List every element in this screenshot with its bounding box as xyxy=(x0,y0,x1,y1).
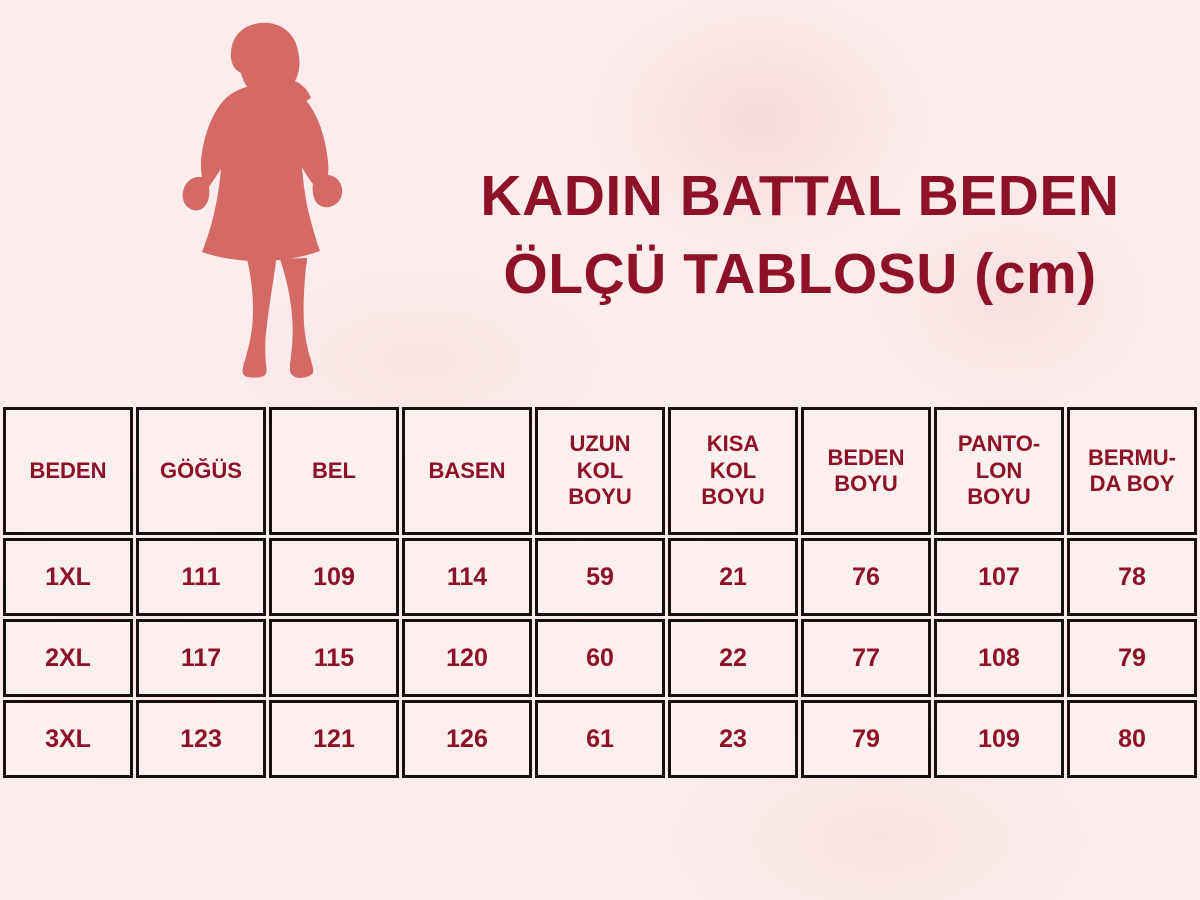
header-label-line: BOYU xyxy=(939,484,1059,510)
table-row: 1XL11110911459217610778 xyxy=(3,538,1197,616)
size-chart-body: BEDENGÖĞÜSBELBASENUZUNKOLBOYUKISAKOLBOYU… xyxy=(3,407,1197,778)
header-label-line: BEDEN xyxy=(8,458,128,484)
header-label: BEDEN xyxy=(8,458,128,484)
title-line-2: ÖLÇÜ TABLOSU (cm) xyxy=(430,236,1170,314)
size-label-cell: 1XL xyxy=(3,538,133,616)
header-label-line: KOL xyxy=(540,458,660,484)
header-section: KADIN BATTAL BEDEN ÖLÇÜ TABLOSU (cm) xyxy=(0,0,1200,400)
table-header-cell: BEL xyxy=(269,407,399,535)
measurement-cell: 120 xyxy=(402,619,532,697)
header-label-line: KISA xyxy=(673,431,793,457)
plus-size-woman-silhouette-icon xyxy=(152,18,382,386)
title-line-1: KADIN BATTAL BEDEN xyxy=(430,158,1170,236)
header-label-line: BOYU xyxy=(673,484,793,510)
table-row: 2XL11711512060227710879 xyxy=(3,619,1197,697)
measurement-cell: 22 xyxy=(668,619,798,697)
measurement-cell: 115 xyxy=(269,619,399,697)
table-header-cell: BEDEN xyxy=(3,407,133,535)
measurement-cell: 59 xyxy=(535,538,665,616)
header-label-line: KOL xyxy=(673,458,793,484)
measurement-cell: 107 xyxy=(934,538,1064,616)
measurement-cell: 78 xyxy=(1067,538,1197,616)
header-label: PANTO-LONBOYU xyxy=(939,431,1059,510)
table-header-row: BEDENGÖĞÜSBELBASENUZUNKOLBOYUKISAKOLBOYU… xyxy=(3,407,1197,535)
header-label: GÖĞÜS xyxy=(141,458,261,484)
measurement-cell: 77 xyxy=(801,619,931,697)
measurement-cell: 126 xyxy=(402,700,532,778)
header-label: BASEN xyxy=(407,458,527,484)
header-label: BEDENBOYU xyxy=(806,445,926,498)
measurement-cell: 111 xyxy=(136,538,266,616)
measurement-cell: 76 xyxy=(801,538,931,616)
size-label-cell: 3XL xyxy=(3,700,133,778)
measurement-cell: 79 xyxy=(801,700,931,778)
page-title: KADIN BATTAL BEDEN ÖLÇÜ TABLOSU (cm) xyxy=(430,158,1170,313)
header-label-line: BEL xyxy=(274,458,394,484)
header-label-line: BERMU- xyxy=(1072,445,1192,471)
size-chart-table: BEDENGÖĞÜSBELBASENUZUNKOLBOYUKISAKOLBOYU… xyxy=(0,404,1200,781)
size-chart-section: BEDENGÖĞÜSBELBASENUZUNKOLBOYUKISAKOLBOYU… xyxy=(0,404,1200,781)
measurement-cell: 109 xyxy=(269,538,399,616)
measurement-cell: 114 xyxy=(402,538,532,616)
header-label: UZUNKOLBOYU xyxy=(540,431,660,510)
size-label-cell: 2XL xyxy=(3,619,133,697)
measurement-cell: 23 xyxy=(668,700,798,778)
header-label-line: DA BOY xyxy=(1072,471,1192,497)
header-label-line: LON xyxy=(939,458,1059,484)
measurement-cell: 79 xyxy=(1067,619,1197,697)
table-header-cell: BEDENBOYU xyxy=(801,407,931,535)
table-header-cell: GÖĞÜS xyxy=(136,407,266,535)
measurement-cell: 80 xyxy=(1067,700,1197,778)
table-header-cell: UZUNKOLBOYU xyxy=(535,407,665,535)
table-header-cell: PANTO-LONBOYU xyxy=(934,407,1064,535)
measurement-cell: 123 xyxy=(136,700,266,778)
measurement-cell: 108 xyxy=(934,619,1064,697)
header-label: BEL xyxy=(274,458,394,484)
header-label-line: BASEN xyxy=(407,458,527,484)
header-label: BERMU-DA BOY xyxy=(1072,445,1192,498)
table-header-cell: KISAKOLBOYU xyxy=(668,407,798,535)
header-label-line: BOYU xyxy=(540,484,660,510)
header-label-line: BOYU xyxy=(806,471,926,497)
header-label-line: PANTO- xyxy=(939,431,1059,457)
measurement-cell: 21 xyxy=(668,538,798,616)
header-label-line: GÖĞÜS xyxy=(141,458,261,484)
header-label-line: BEDEN xyxy=(806,445,926,471)
table-row: 3XL12312112661237910980 xyxy=(3,700,1197,778)
table-header-cell: BERMU-DA BOY xyxy=(1067,407,1197,535)
measurement-cell: 117 xyxy=(136,619,266,697)
table-header-cell: BASEN xyxy=(402,407,532,535)
header-label-line: UZUN xyxy=(540,431,660,457)
measurement-cell: 109 xyxy=(934,700,1064,778)
measurement-cell: 60 xyxy=(535,619,665,697)
measurement-cell: 61 xyxy=(535,700,665,778)
measurement-cell: 121 xyxy=(269,700,399,778)
header-label: KISAKOLBOYU xyxy=(673,431,793,510)
